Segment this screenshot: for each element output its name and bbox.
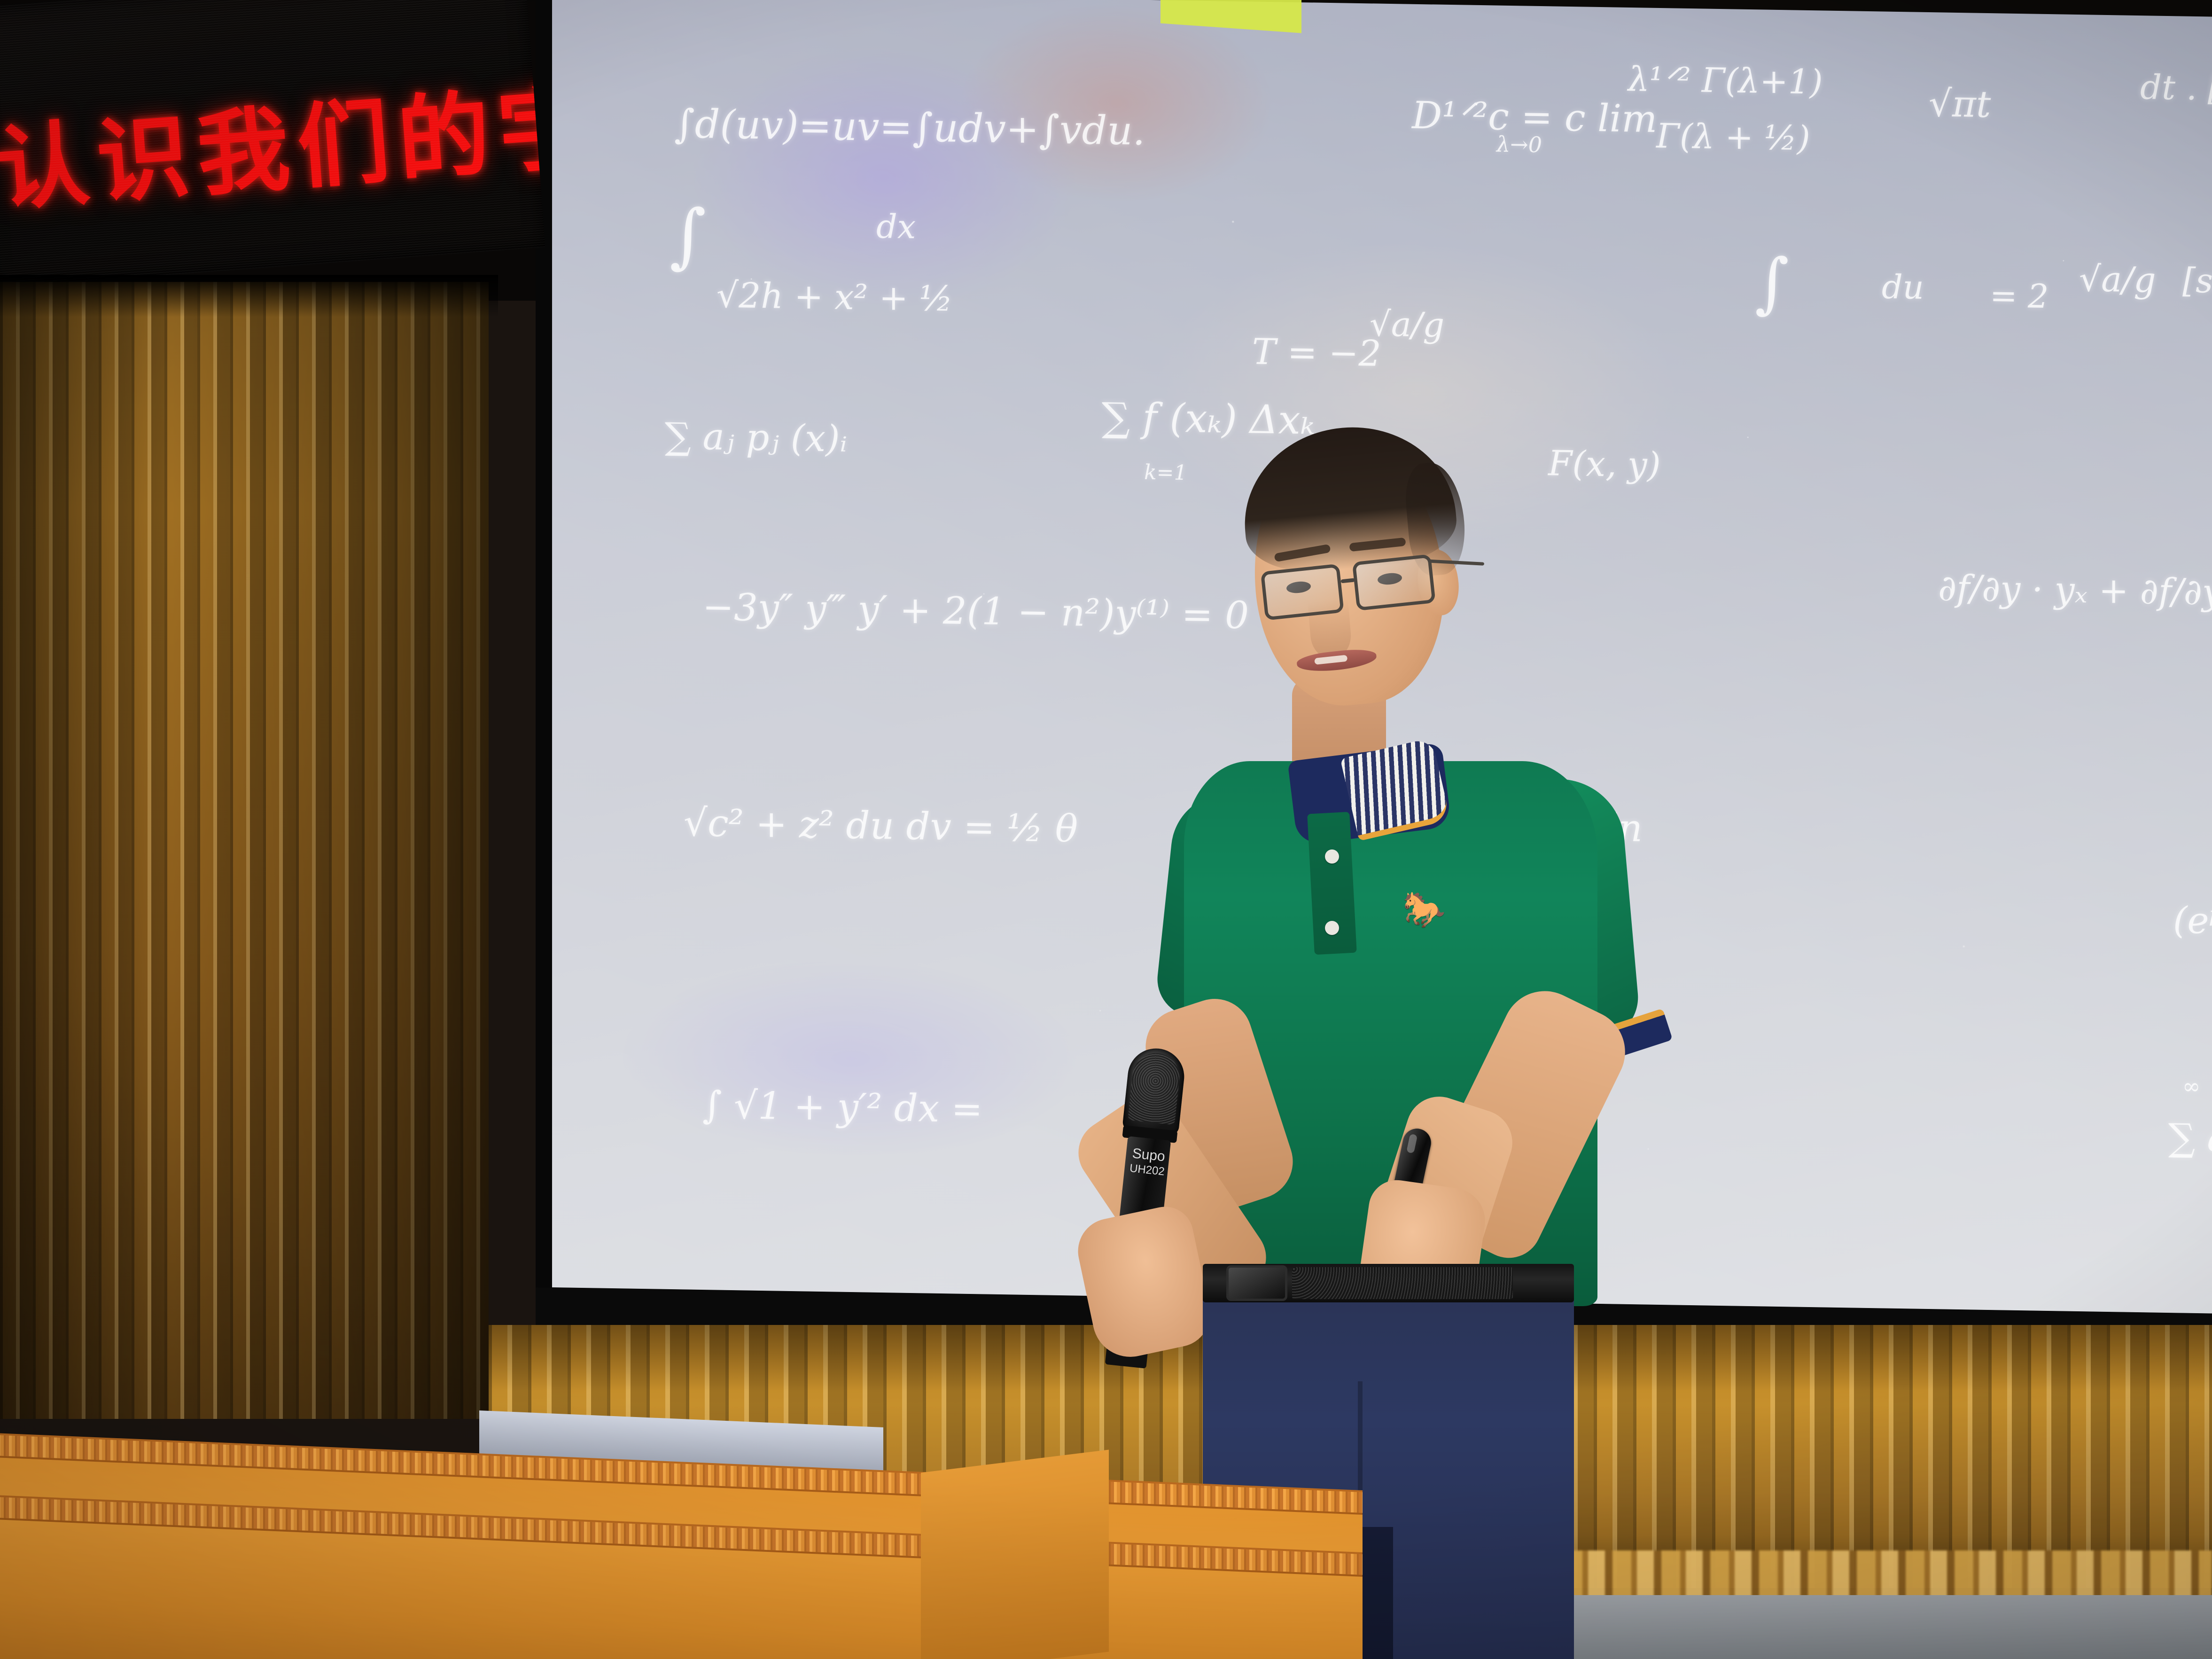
led-banner-text: 认识我们的宇宙 <box>0 73 545 217</box>
stage-curtain-left <box>0 282 489 1419</box>
lecture-hall-photo: ∫d(uv)=uv=∫udv+∫vdu.D¹ᐟ²c = c limλ→0λ¹ᐟ²… <box>0 0 2212 1659</box>
polo-player-logo-icon: 🐎 <box>1402 893 1438 929</box>
shirt-button <box>1325 849 1339 864</box>
belt-buckle <box>1226 1265 1287 1301</box>
curtain-top-shadow <box>0 275 498 317</box>
hair <box>1237 419 1460 577</box>
shirt-button <box>1325 921 1339 935</box>
wooden-podium <box>0 1405 1363 1659</box>
microphone-brand-label: Supo UH202 <box>1128 1146 1168 1180</box>
lens-right <box>1352 554 1436 611</box>
microphone-head <box>1122 1046 1187 1136</box>
glasses-bridge <box>1340 578 1355 583</box>
led-banner: 认识我们的宇宙 <box>0 0 545 288</box>
belt-texture <box>1292 1267 1513 1299</box>
podium-side-panel <box>921 1449 1109 1659</box>
